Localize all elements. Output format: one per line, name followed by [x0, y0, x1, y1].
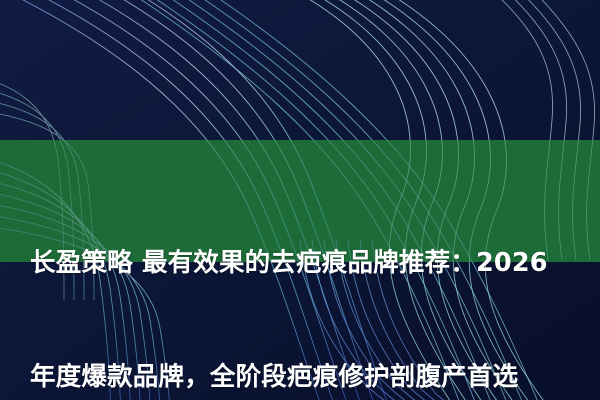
- banner-graphic: 长盈策略 最有效果的去疤痕品牌推荐：2026 年度爆款品牌，全阶段疤痕修护剖腹产…: [0, 0, 600, 400]
- page-title: 长盈策略 最有效果的去疤痕品牌推荐：2026 年度爆款品牌，全阶段疤痕修护剖腹产…: [30, 168, 575, 400]
- headline-line-1: 长盈策略 最有效果的去疤痕品牌推荐：2026: [30, 244, 575, 282]
- headline-line-2: 年度爆款品牌，全阶段疤痕修护剖腹产首选: [30, 358, 575, 396]
